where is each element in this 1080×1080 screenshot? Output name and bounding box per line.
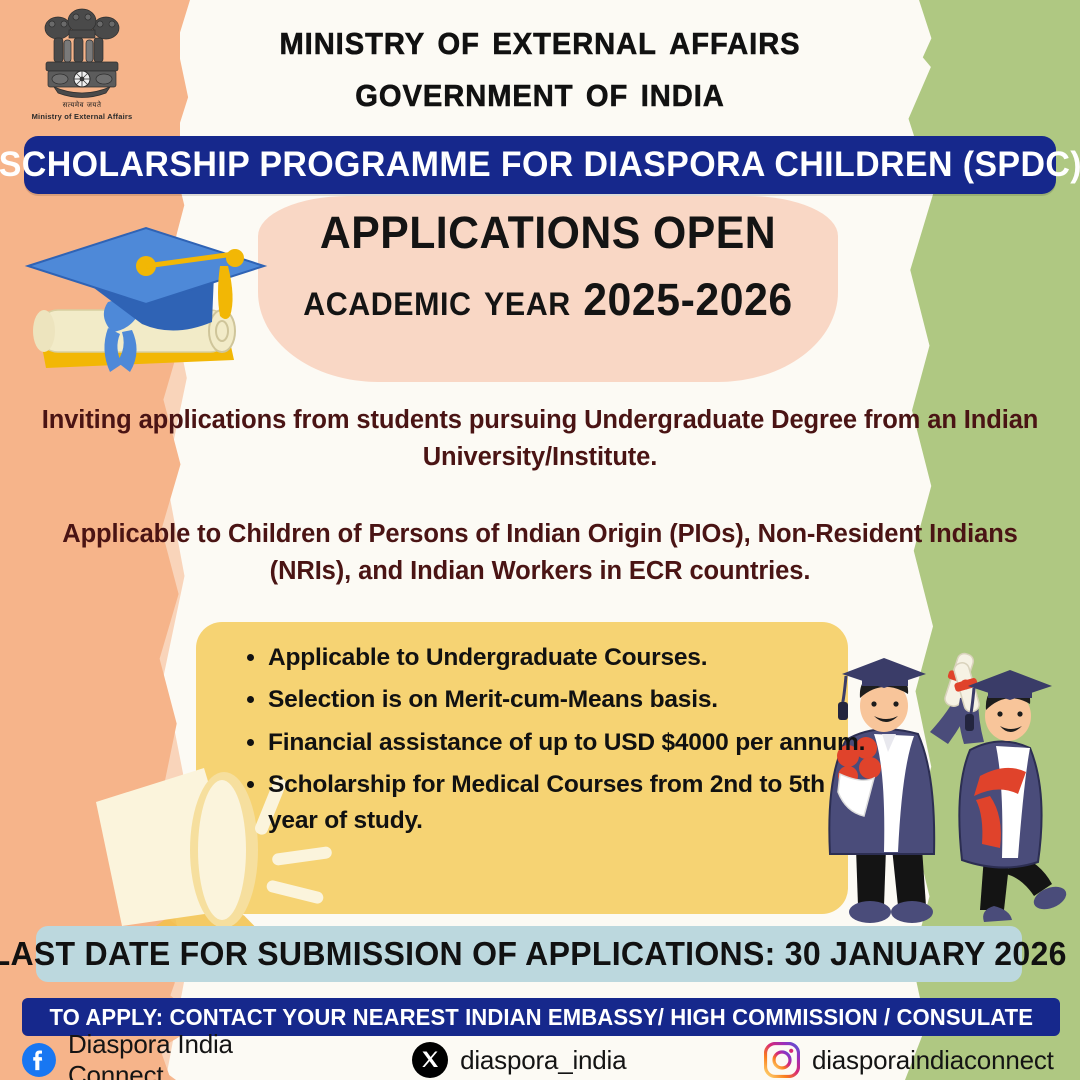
list-item: Selection is on Merit-cum-Means basis. — [268, 682, 868, 718]
list-item: Applicable to Undergraduate Courses. — [268, 640, 868, 676]
list-item: Financial assistance of up to USD $4000 … — [268, 725, 868, 761]
social-x-twitter[interactable]: diaspora_india — [412, 1042, 740, 1078]
instagram-handle[interactable]: diasporaindiaconnect — [812, 1045, 1054, 1076]
programme-title-text: SCHOLARSHIP PROGRAMME FOR DIASPORA CHILD… — [0, 145, 1080, 185]
social-links-row: Diaspora India Connect diaspora_india — [22, 1040, 1062, 1080]
paragraph-applicability: Applicable to Children of Persons of Ind… — [30, 516, 1050, 590]
paragraph-eligibility: Inviting applications from students purs… — [30, 402, 1050, 476]
india-state-emblem-icon — [36, 6, 128, 102]
graduation-cap-illustration — [22, 210, 272, 390]
body-paragraphs: Inviting applications from students purs… — [30, 402, 1050, 590]
hero-block: APPLICATIONS OPEN Academic Year 2025-202… — [258, 206, 838, 328]
last-date-text: LAST DATE FOR SUBMISSION OF APPLICATIONS… — [0, 935, 1067, 973]
emblem-caption: Ministry of External Affairs — [22, 112, 142, 121]
emblem-block: सत्यमेव जयते Ministry of External Affair… — [22, 6, 142, 138]
tassel-knot — [226, 249, 244, 267]
academic-year-heading: Academic Year 2025-2026 — [273, 273, 824, 328]
social-facebook[interactable]: Diaspora India Connect — [22, 1029, 320, 1080]
highlights-list: Applicable to Undergraduate Courses. Sel… — [228, 640, 868, 845]
programme-title-banner: SCHOLARSHIP PROGRAMME FOR DIASPORA CHILD… — [24, 136, 1056, 194]
applications-open-heading: APPLICATIONS OPEN — [273, 206, 824, 261]
facebook-handle[interactable]: Diaspora India Connect — [68, 1029, 320, 1080]
graduate-right — [949, 660, 1070, 922]
x-twitter-icon[interactable] — [412, 1042, 448, 1078]
social-instagram[interactable]: diasporaindiaconnect — [764, 1042, 1062, 1078]
apply-instructions-text: TO APPLY: CONTACT YOUR NEAREST INDIAN EM… — [49, 1004, 1033, 1031]
header-block: Ministry of External Affairs Government … — [0, 14, 1080, 118]
header-government-line: Government of India — [32, 66, 1047, 118]
x-handle[interactable]: diaspora_india — [460, 1045, 626, 1076]
list-item: Scholarship for Medical Courses from 2nd… — [268, 767, 868, 840]
instagram-icon[interactable] — [764, 1042, 800, 1078]
emblem-motto: सत्यमेव जयते — [22, 101, 142, 110]
facebook-icon[interactable] — [22, 1042, 56, 1078]
header-ministry-line: Ministry of External Affairs — [32, 14, 1047, 66]
last-date-banner: LAST DATE FOR SUBMISSION OF APPLICATIONS… — [36, 926, 1022, 982]
poster-canvas: सत्यमेव जयते Ministry of External Affair… — [0, 0, 1080, 1080]
